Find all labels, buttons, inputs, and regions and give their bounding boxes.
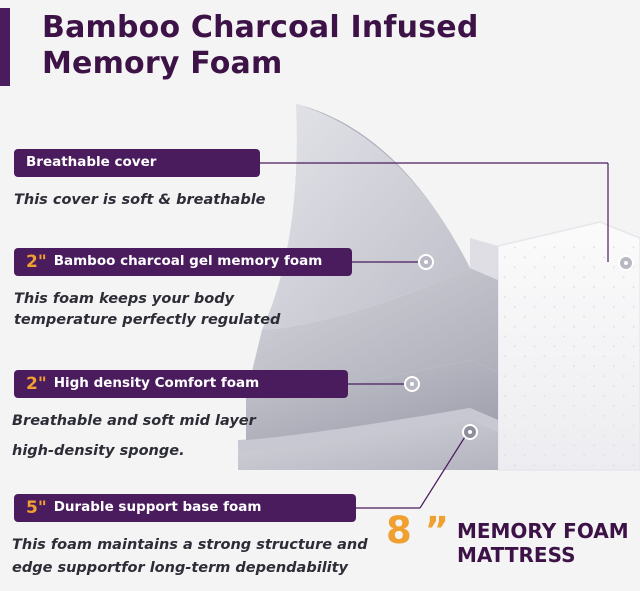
description-durable-support-base-foam-line2: edge supportfor long-term dependability (12, 558, 372, 579)
callout-bamboo-charcoal-gel-memory-foam[interactable]: 2" Bamboo charcoal gel memory foam (14, 248, 352, 276)
callout-label-durable-support-base-foam: Durable support base foam (54, 501, 262, 515)
description-high-density-comfort-foam-line1: Breathable and soft mid layer (12, 411, 352, 432)
description-breathable-cover: This cover is soft & breathable (14, 190, 354, 211)
mattress-size-text-line1: MEMORY FOAM (457, 519, 629, 543)
callout-label-high-density-comfort-foam: High density Comfort foam (54, 377, 259, 391)
connector-dot-gel (418, 254, 434, 270)
callout-label-bamboo-charcoal-gel-memory-foam: Bamboo charcoal gel memory foam (54, 255, 323, 269)
title-accent-bar (0, 8, 10, 86)
mattress-size-value: 8 ” (386, 514, 449, 548)
callout-durable-support-base-foam[interactable]: 5" Durable support base foam (14, 494, 356, 522)
connector-dot-comfort (404, 376, 420, 392)
mattress-size-label: 8 ” MEMORY FOAM MATTRESS (386, 514, 629, 567)
connector-dot-cover (618, 255, 634, 271)
callout-measure-durable-support-base-foam: 5" (26, 500, 47, 517)
mattress-size-text: MEMORY FOAM MATTRESS (457, 514, 629, 567)
page-title: Bamboo Charcoal Infused Memory Foam (42, 10, 512, 82)
description-durable-support-base-foam-line1: This foam maintains a strong structure a… (12, 535, 372, 556)
callout-breathable-cover[interactable]: Breathable cover (14, 149, 260, 177)
callout-measure-bamboo-charcoal-gel-memory-foam: 2" (26, 254, 47, 271)
infographic-root: Bamboo Charcoal Infused Memory Foam (0, 0, 640, 591)
callout-high-density-comfort-foam[interactable]: 2" High density Comfort foam (14, 370, 348, 398)
description-bamboo-charcoal-gel-memory-foam-line2: temperature perfectly regulated (14, 310, 344, 331)
description-high-density-comfort-foam-line2: high-density sponge. (12, 441, 352, 462)
description-bamboo-charcoal-gel-memory-foam-line1: This foam keeps your body (14, 289, 344, 310)
callout-label-breathable-cover: Breathable cover (26, 156, 156, 170)
callout-measure-high-density-comfort-foam: 2" (26, 376, 47, 393)
mattress-size-text-line2: MATTRESS (457, 543, 576, 567)
connector-dot-base (462, 424, 478, 440)
